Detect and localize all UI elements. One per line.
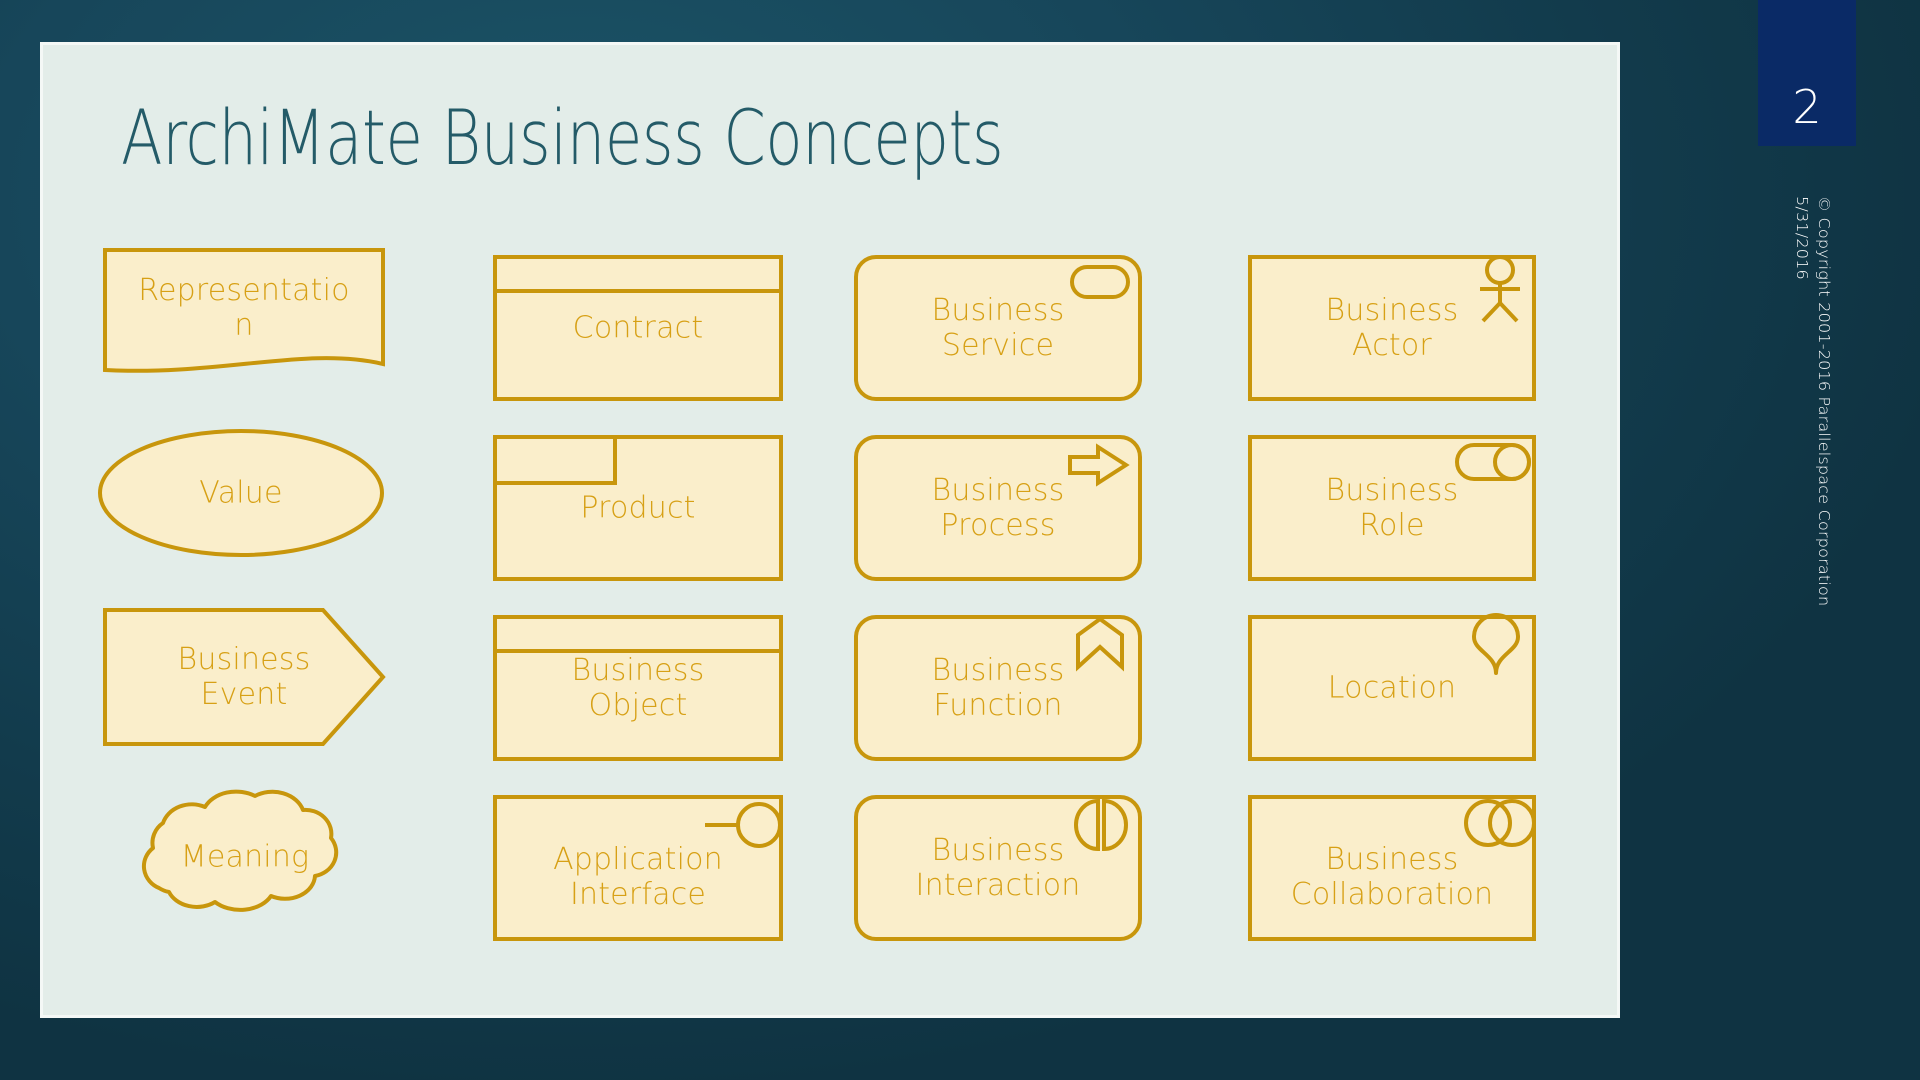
concept-business-object[interactable]: Business Object [493,615,783,761]
concept-business-event[interactable]: Business Event [103,608,385,746]
page-title: ArchiMate Business Concepts [121,93,1003,182]
slide-panel: ArchiMate Business Concepts Representati… [40,42,1620,1018]
rect-shape [1248,255,1536,401]
concept-business-service[interactable]: Business Service [854,255,1142,401]
concept-business-function[interactable]: Business Function [854,615,1142,761]
concept-application-interface[interactable]: Application Interface [493,795,783,941]
slide-date: 5/31/2016 [1794,196,1811,280]
concept-value[interactable]: Value [97,428,385,558]
rounded-shape [854,615,1142,761]
ellipse-shape [97,428,385,558]
concept-business-process[interactable]: Business Process [854,435,1142,581]
rect-shape [1248,435,1536,581]
concept-business-interaction[interactable]: Business Interaction [854,795,1142,941]
rounded-shape [854,255,1142,401]
event-pentagon-shape [103,608,385,746]
slide-number: 2 [1758,80,1856,134]
concept-product[interactable]: Product [493,435,783,581]
cloud-shape [97,788,393,926]
slide-number-box: 2 [1758,0,1856,146]
rect-shape [1248,795,1536,941]
contract-shape [493,255,783,401]
rect-shape [1248,615,1536,761]
concept-business-role[interactable]: Business Role [1248,435,1536,581]
representation-shape [103,248,385,378]
rounded-shape [854,435,1142,581]
concept-meaning[interactable]: Meaning [97,788,393,926]
contract-shape [493,615,783,761]
rect-shape [493,795,783,941]
copyright-notice: © Copyright 2001-2016 Parallelspace Corp… [1816,196,1833,606]
concept-business-actor[interactable]: Business Actor [1248,255,1536,401]
product-shape [493,435,783,581]
concept-business-collaboration[interactable]: Business Collaboration [1248,795,1536,941]
concept-location[interactable]: Location [1248,615,1536,761]
concept-contract[interactable]: Contract [493,255,783,401]
rounded-shape [854,795,1142,941]
concept-representation[interactable]: Representatio n [103,248,385,378]
